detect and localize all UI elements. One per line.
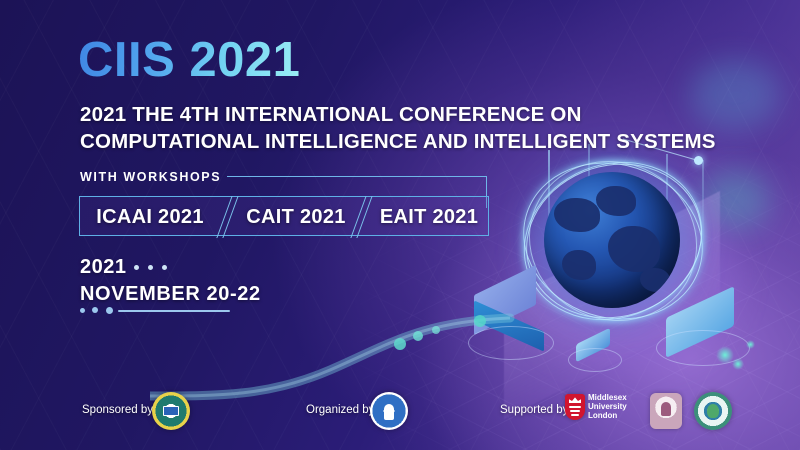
emblem-icon (707, 404, 719, 418)
workshops-label: WITH WORKSHOPS (80, 170, 221, 184)
workshop-label: ICAAI 2021 (96, 206, 204, 229)
device-glow-ring (568, 348, 622, 372)
date-range: NOVEMBER 20-22 (80, 283, 261, 306)
workshop-label: EAIT 2021 (380, 206, 478, 229)
middlesex-university-london-logo: Middlesex University London (565, 394, 627, 421)
support-seal-pink (650, 393, 682, 429)
subtitle-line-1: 2021 THE 4TH INTERNATIONAL CONFERENCE ON (80, 101, 740, 128)
sponsor-seal-book (152, 392, 190, 430)
footer-label-organized: Organized by (306, 404, 374, 416)
book-emblem-icon (163, 406, 179, 416)
workshop-item-icaai[interactable]: ICAAI 2021 (80, 197, 220, 237)
workshop-label: CAIT 2021 (246, 206, 345, 229)
crown-icon (569, 397, 581, 403)
particle-glow (746, 340, 755, 349)
date-underline-rule (80, 307, 230, 315)
organizer-seal-blue (370, 392, 408, 430)
footer-label-supported: Supported by (500, 404, 568, 416)
date-decorative-dots (134, 265, 167, 270)
middlesex-shield-icon (565, 394, 585, 420)
figure-emblem-icon (384, 404, 394, 420)
emblem-icon (661, 402, 671, 416)
date-year: 2021 (80, 256, 127, 279)
conference-subtitle: 2021 THE 4TH INTERNATIONAL CONFERENCE ON… (80, 101, 740, 156)
footer-label-sponsored: Sponsored by (82, 404, 153, 416)
conference-banner: CIIS 2021 2021 THE 4TH INTERNATIONAL CON… (0, 0, 800, 450)
workshop-item-cait[interactable]: CAIT 2021 (232, 197, 360, 237)
middlesex-line-3: London (588, 412, 627, 421)
page-title: CIIS 2021 (78, 36, 300, 85)
workshop-item-eait[interactable]: EAIT 2021 (368, 197, 490, 237)
particle-glow (732, 358, 744, 370)
illustration-global-network (470, 150, 800, 410)
workshops-frame: ICAAI 2021 CAIT 2021 EAIT 2021 (79, 196, 489, 236)
support-seal-teal (694, 392, 732, 430)
device-glow-ring (468, 326, 554, 360)
subtitle-line-2: COMPUTATIONAL INTELLIGENCE AND INTELLIGE… (80, 128, 740, 155)
